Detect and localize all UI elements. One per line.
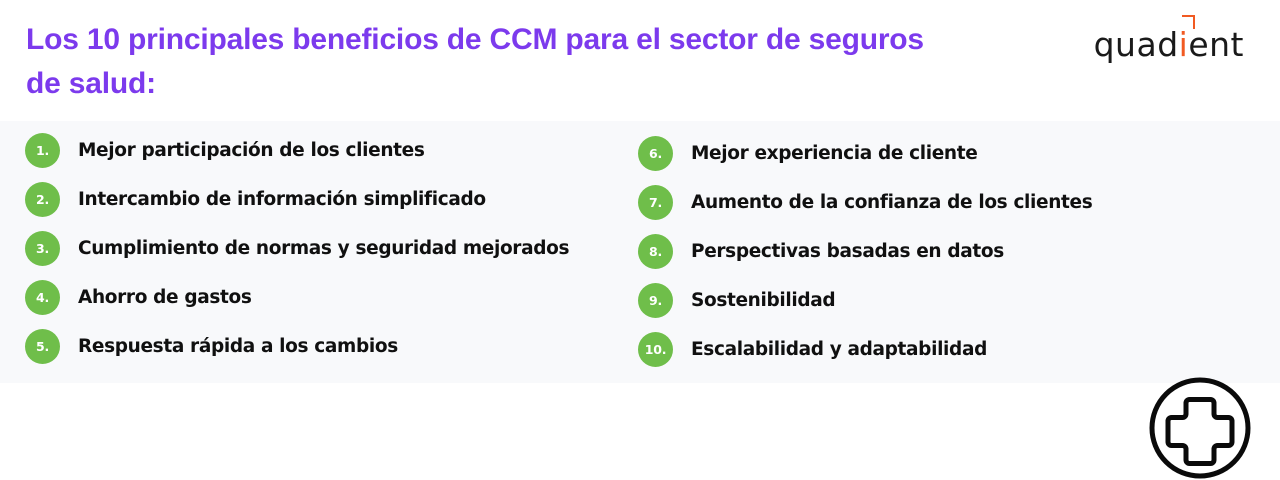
benefits-list-right: 6. Mejor experiencia de cliente 7. Aumen… — [638, 136, 1158, 367]
infographic-root: Los 10 principales beneficios de CCM par… — [0, 0, 1280, 400]
quadient-logo: quadient — [1094, 22, 1244, 62]
list-item-number-badge: 8. — [638, 234, 673, 269]
list-item-label: Intercambio de información simplificado — [78, 189, 486, 210]
list-item-number-badge: 5. — [25, 329, 60, 364]
list-item-label: Respuesta rápida a los cambios — [78, 336, 398, 357]
header-band: Los 10 principales beneficios de CCM par… — [0, 0, 1280, 121]
benefits-left-column: 1. Mejor participación de los clientes 2… — [25, 121, 625, 378]
logo-text-part-2: i — [1179, 25, 1189, 64]
list-item: 9. Sostenibilidad — [638, 283, 1158, 318]
page-title: Los 10 principales beneficios de CCM par… — [26, 18, 956, 106]
list-item-number-badge: 7. — [638, 185, 673, 220]
list-item-label: Mejor experiencia de cliente — [691, 143, 977, 164]
list-item-label: Perspectivas basadas en datos — [691, 241, 1004, 262]
list-item-number-badge: 9. — [638, 283, 673, 318]
list-item-number-badge: 2. — [25, 182, 60, 217]
logo-corner-bracket-icon — [1182, 15, 1195, 29]
list-item-number-badge: 10. — [638, 332, 673, 367]
list-item-number-badge: 3. — [25, 231, 60, 266]
logo-text-part-1: quad — [1094, 28, 1179, 62]
list-item: 8. Perspectivas basadas en datos — [638, 234, 1158, 269]
benefits-list-left: 1. Mejor participación de los clientes 2… — [25, 133, 625, 364]
list-item-number-badge: 4. — [25, 280, 60, 315]
benefits-panel: 1. Mejor participación de los clientes 2… — [0, 121, 1280, 383]
benefits-right-column: 6. Mejor experiencia de cliente 7. Aumen… — [638, 121, 1158, 381]
logo-text-part-3: ent — [1188, 28, 1244, 62]
list-item-label: Mejor participación de los clientes — [78, 140, 425, 161]
list-item-number-badge: 1. — [25, 133, 60, 168]
logo-accent-letter: i — [1179, 28, 1189, 62]
list-item: 7. Aumento de la confianza de los client… — [638, 185, 1158, 220]
list-item-label: Cumplimiento de normas y seguridad mejor… — [78, 238, 569, 259]
list-item: 5. Respuesta rápida a los cambios — [25, 329, 625, 364]
list-item: 10. Escalabilidad y adaptabilidad — [638, 332, 1158, 367]
list-item: 4. Ahorro de gastos — [25, 280, 625, 315]
logo-wordmark: quadient — [1094, 28, 1244, 62]
list-item: 1. Mejor participación de los clientes — [25, 133, 625, 168]
list-item-label: Sostenibilidad — [691, 290, 835, 311]
list-item: 6. Mejor experiencia de cliente — [638, 136, 1158, 171]
list-item-label: Ahorro de gastos — [78, 287, 252, 308]
list-item-label: Escalabilidad y adaptabilidad — [691, 339, 987, 360]
list-item: 2. Intercambio de información simplifica… — [25, 182, 625, 217]
list-item-number-badge: 6. — [638, 136, 673, 171]
list-item-label: Aumento de la confianza de los clientes — [691, 192, 1092, 213]
list-item: 3. Cumplimiento de normas y seguridad me… — [25, 231, 625, 266]
medical-cross-circle-icon — [1148, 376, 1252, 480]
